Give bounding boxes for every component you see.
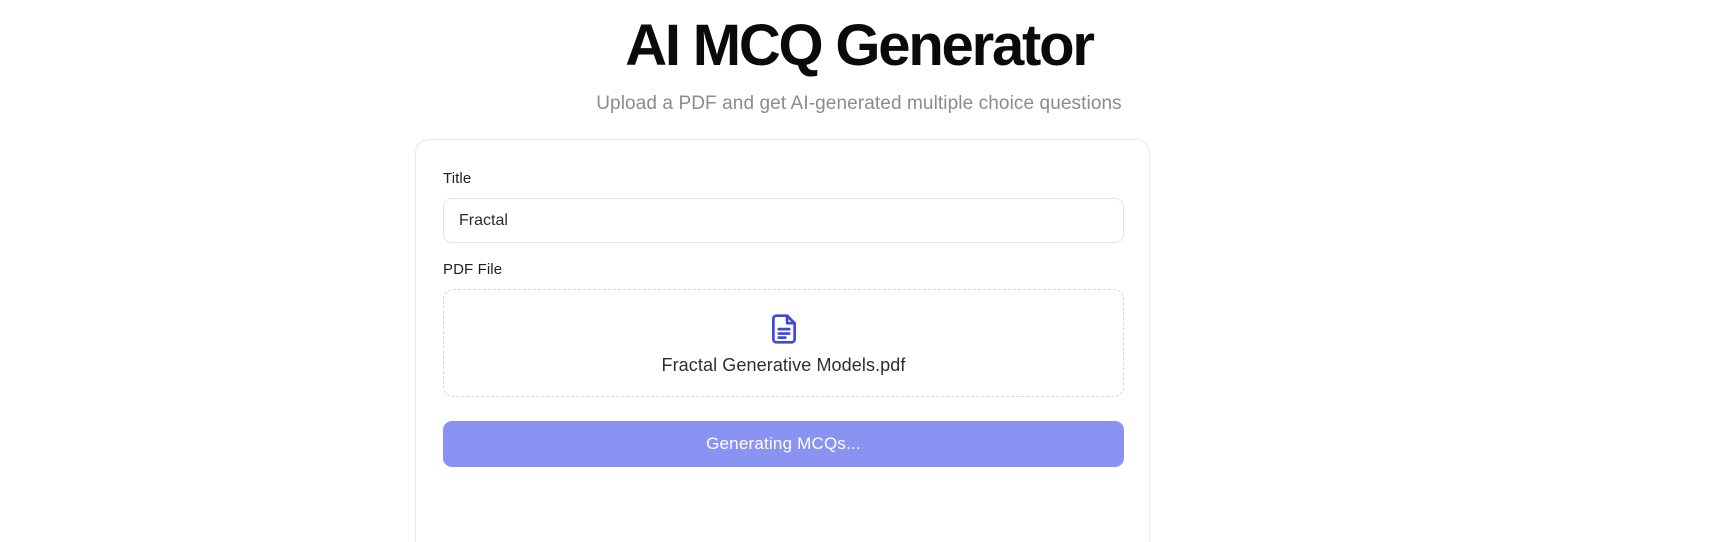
- generate-mcqs-button[interactable]: Generating MCQs...: [443, 421, 1124, 467]
- page-header: AI MCQ Generator Upload a PDF and get AI…: [0, 0, 1718, 116]
- title-field-label: Title: [443, 170, 1122, 187]
- title-field-group: Title: [443, 170, 1122, 243]
- pdf-filename: Fractal Generative Models.pdf: [661, 356, 905, 374]
- pdf-dropzone[interactable]: Fractal Generative Models.pdf: [443, 289, 1124, 397]
- pdf-field-label: PDF File: [443, 261, 1122, 278]
- page-subtitle: Upload a PDF and get AI-generated multip…: [0, 93, 1718, 116]
- document-file-icon: [767, 312, 801, 346]
- app-page: AI MCQ Generator Upload a PDF and get AI…: [0, 0, 1718, 542]
- title-input[interactable]: [443, 198, 1124, 243]
- page-title: AI MCQ Generator: [0, 14, 1718, 79]
- mcq-generator-card: Title PDF File Fractal Generative Models…: [415, 139, 1150, 542]
- pdf-field-group: PDF File Fractal Generative Models.pdf: [443, 261, 1122, 397]
